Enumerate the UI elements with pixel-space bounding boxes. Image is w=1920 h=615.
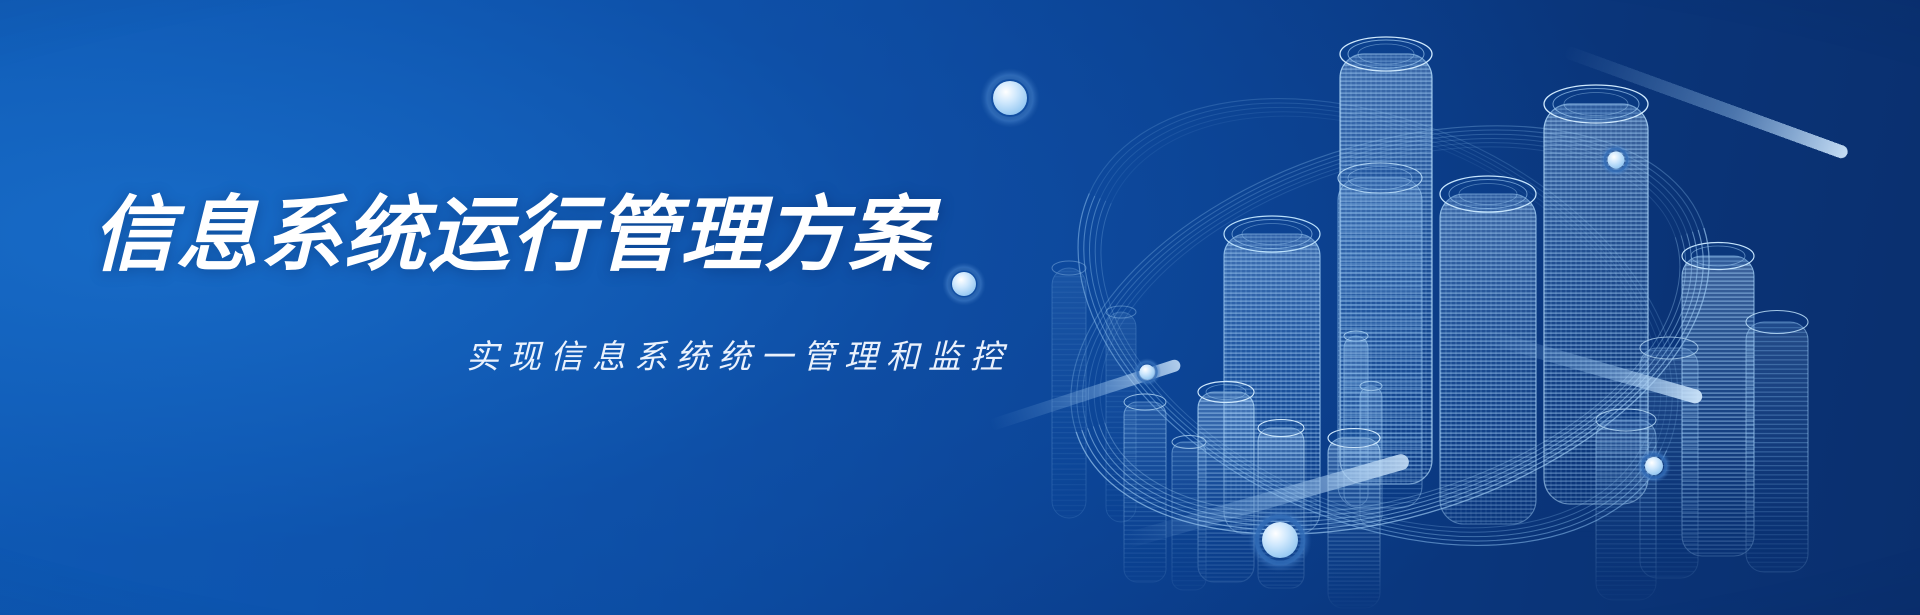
page-subtitle: 实现信息系统统一管理和监控 (466, 337, 1012, 377)
glow-dot-right-upper (1600, 144, 1632, 176)
tower-rightmost-b (1746, 311, 1808, 573)
page-title: 信息系统运行管理方案 (92, 192, 932, 281)
glow-dot-small-center (1133, 358, 1161, 386)
wireframe-city-illustration (940, 0, 1920, 615)
banner-hero: 信息系统运行管理方案 实现信息系统统一管理和监控 (0, 0, 1920, 615)
hero-text-block: 信息系统运行管理方案 实现信息系统统一管理和监控 (0, 0, 980, 615)
city-svg (940, 0, 1920, 615)
glow-dot-upper-left (980, 68, 1040, 128)
glow-dot-right-lower (1637, 449, 1671, 483)
tower-back-1 (1052, 261, 1086, 518)
glow-dot-bottom-center (1248, 508, 1312, 572)
